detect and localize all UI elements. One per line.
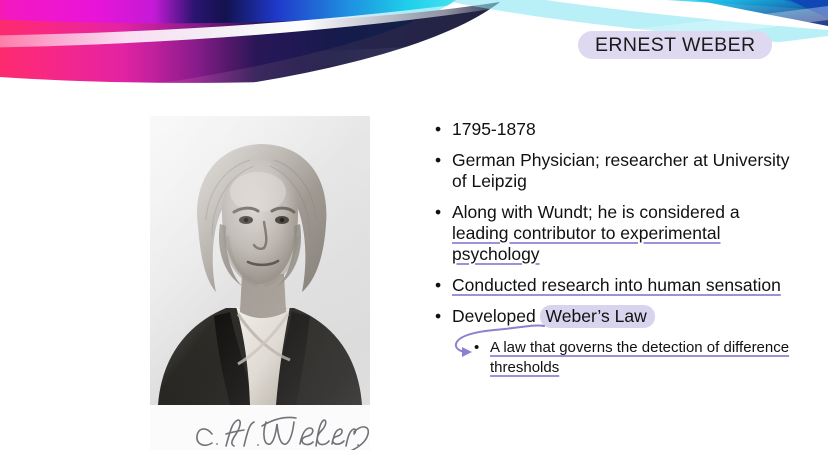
list-item: • Along with Wundt; he is considered a l… (430, 202, 790, 265)
bullet-text-underlined: Conducted research into human sensation (452, 275, 781, 295)
list-item: • 1795-1878 (430, 119, 790, 140)
slide-canvas: ERNEST WEBER (0, 0, 828, 466)
sub-bullet-marker: • (474, 338, 479, 358)
bullet-text-underlined: leading contributor to experimental psyc… (452, 223, 721, 264)
bullet-list: • 1795-1878 • German Physician; research… (430, 119, 790, 337)
list-item: • Developed Weber’s Law (430, 306, 790, 327)
bullet-text: German Physician; researcher at Universi… (452, 150, 789, 191)
list-item: • Conducted research into human sensatio… (430, 275, 790, 296)
bullet-marker: • (435, 150, 441, 171)
bullet-text: Along with Wundt; he is considered a (452, 202, 740, 222)
bullet-text: 1795-1878 (452, 119, 536, 139)
bullet-marker: • (435, 202, 441, 223)
slide-title-pill: ERNEST WEBER (578, 31, 772, 59)
sub-list-item: • A law that governs the detection of di… (474, 338, 790, 378)
page-title: ERNEST WEBER (595, 34, 755, 57)
ernest-weber-portrait (150, 116, 370, 450)
bullet-marker: • (435, 119, 441, 140)
sub-bullet-text: A law that governs the detection of diff… (490, 339, 789, 376)
list-item: • German Physician; researcher at Univer… (430, 150, 790, 192)
bullet-marker: • (435, 275, 441, 296)
bullet-text-highlighted: Weber’s Law (540, 305, 655, 328)
bullet-marker: • (435, 306, 441, 327)
bullet-text: Developed (452, 306, 541, 326)
